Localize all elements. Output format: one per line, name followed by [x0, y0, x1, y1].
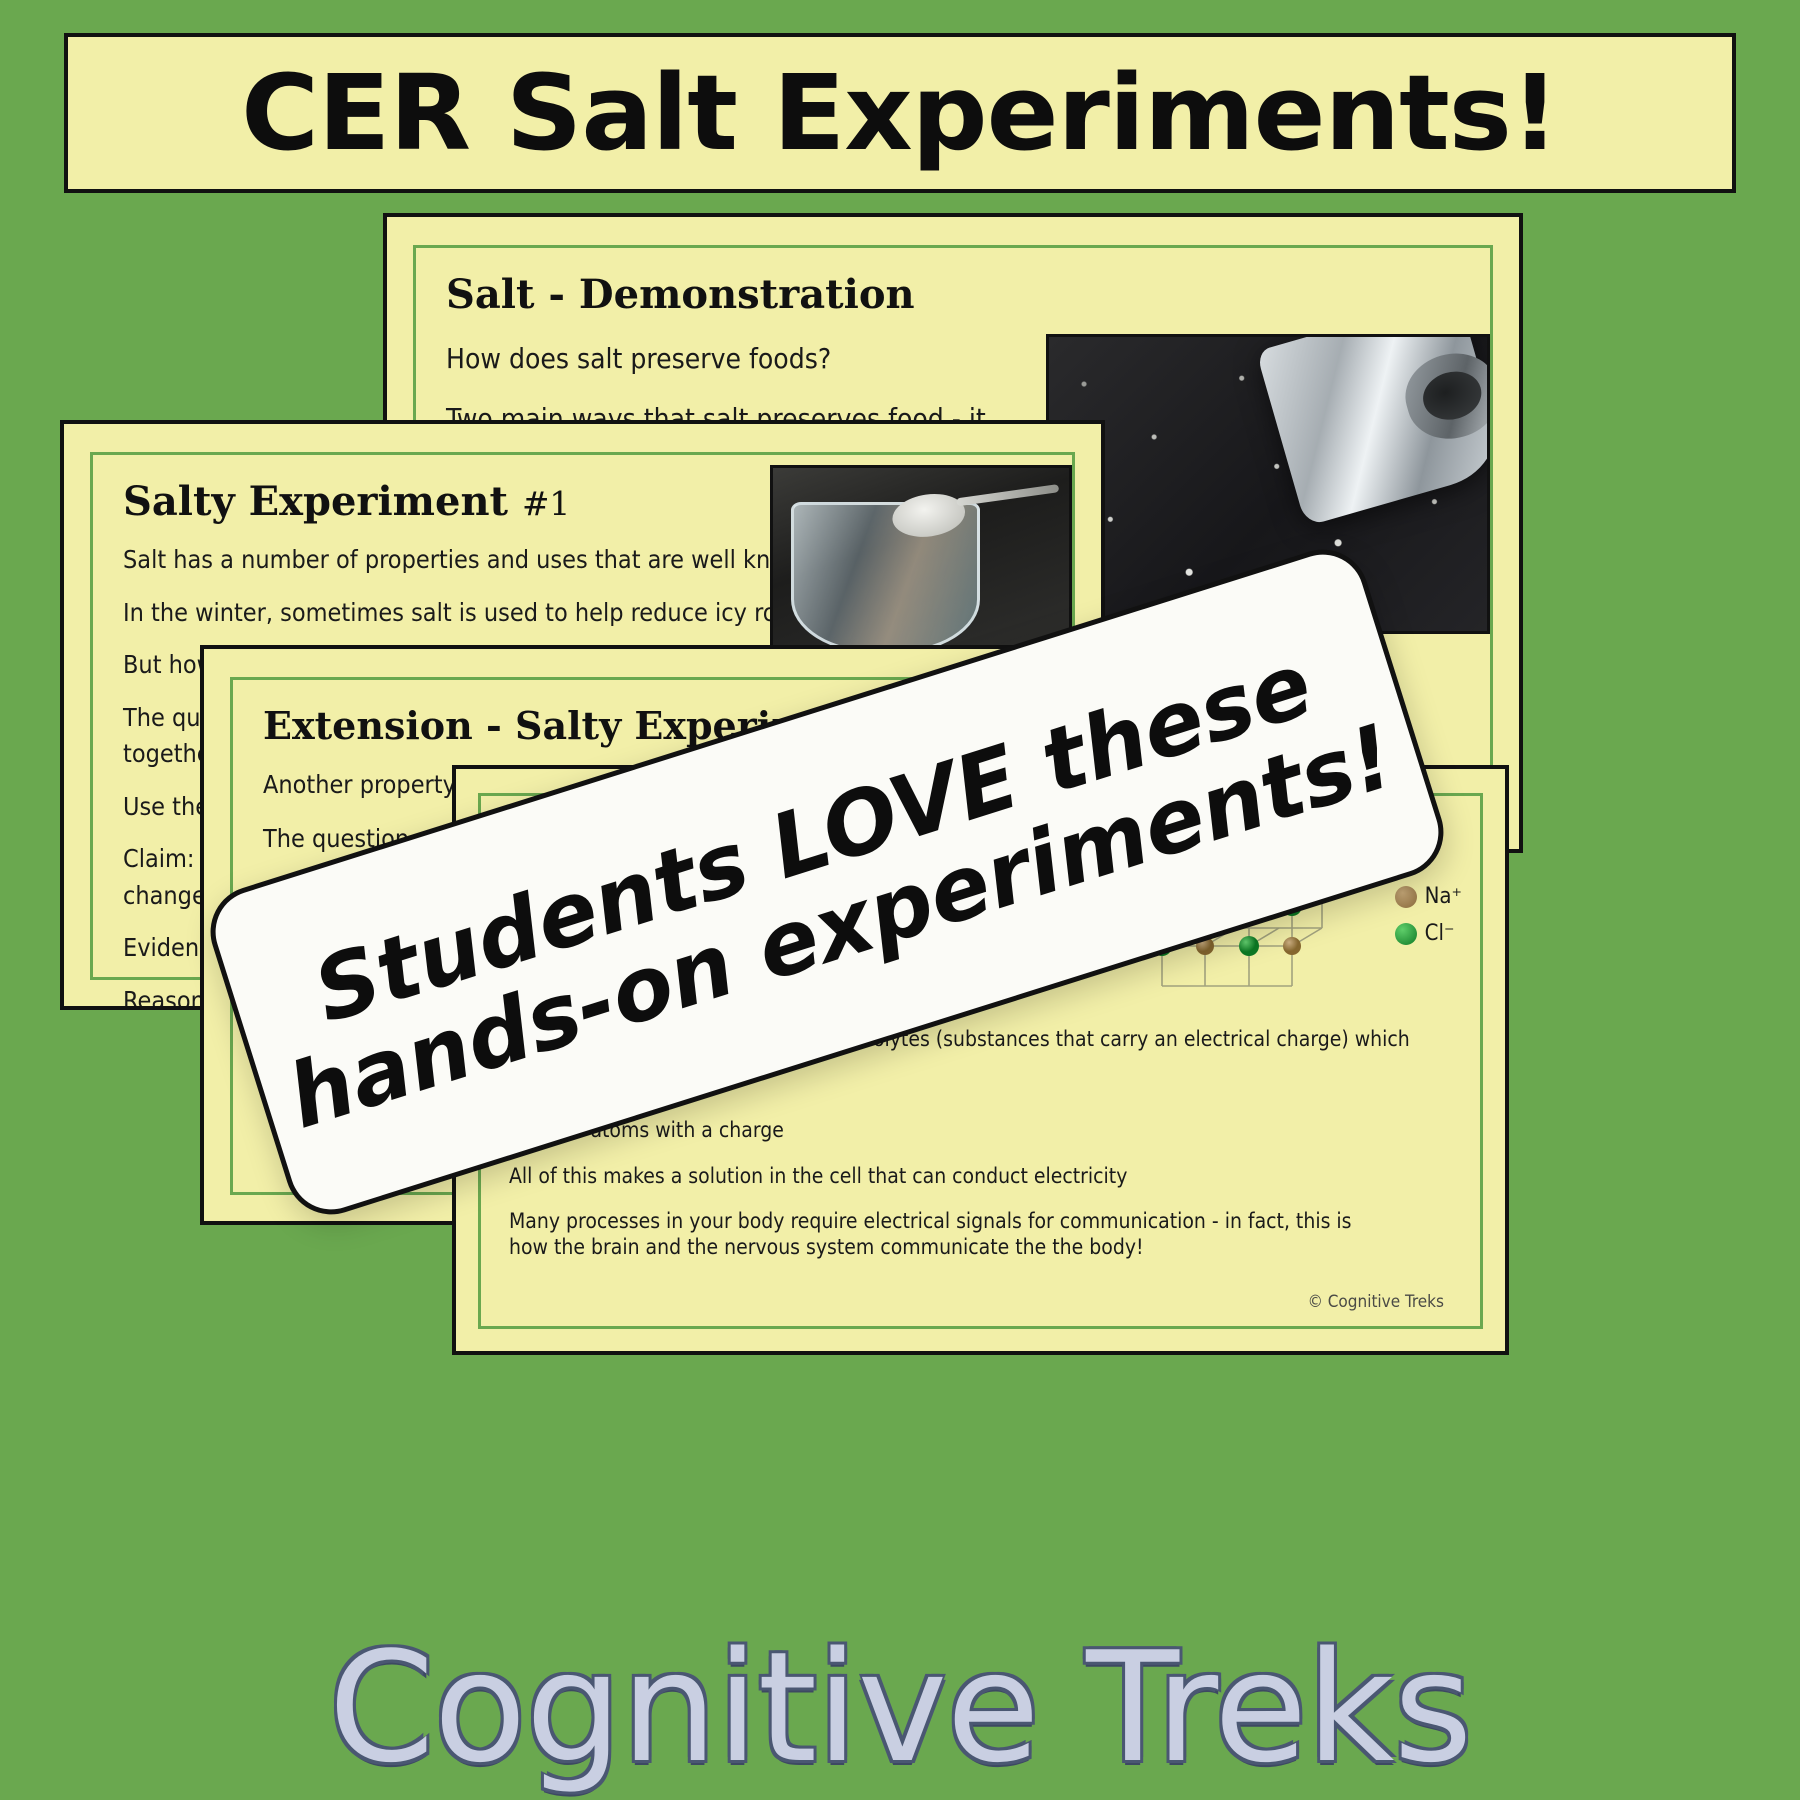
sodium-ion-icon [1395, 886, 1417, 908]
slide-title-number: #1 [522, 485, 570, 523]
poster-canvas: CER Salt Experiments! Salt - Demonstrati… [0, 0, 1800, 1800]
slide-title-main: Salty Experiment [123, 478, 508, 525]
slide-line: Many processes in your body require elec… [509, 1209, 1389, 1260]
legend-item-cl: Cl⁻ [1395, 921, 1462, 946]
slide-line: All of this makes a solution in the cell… [509, 1164, 1452, 1190]
legend-item-na: Na⁺ [1395, 884, 1462, 909]
page-title: CER Salt Experiments! [241, 52, 1558, 174]
legend-label: Cl⁻ [1425, 921, 1455, 946]
brand-name: Cognitive Treks [0, 1632, 1800, 1784]
legend-label: Na⁺ [1425, 884, 1462, 909]
chloride-ion-icon [1395, 923, 1417, 945]
slide-title: Salt - Demonstration [446, 274, 1460, 316]
salt-spoon-photo [770, 465, 1072, 658]
spoon-handle [957, 485, 1060, 507]
shaker-cap [1396, 343, 1490, 449]
lattice-legend: Na⁺ Cl⁻ [1395, 884, 1462, 958]
copyright-notice: © Cognitive Treks [1308, 1292, 1444, 1312]
spoon-over-cup-image [773, 468, 1069, 655]
poster-title-banner: CER Salt Experiments! [64, 33, 1736, 193]
slide-line: Ions are atoms with a charge [509, 1118, 1452, 1144]
